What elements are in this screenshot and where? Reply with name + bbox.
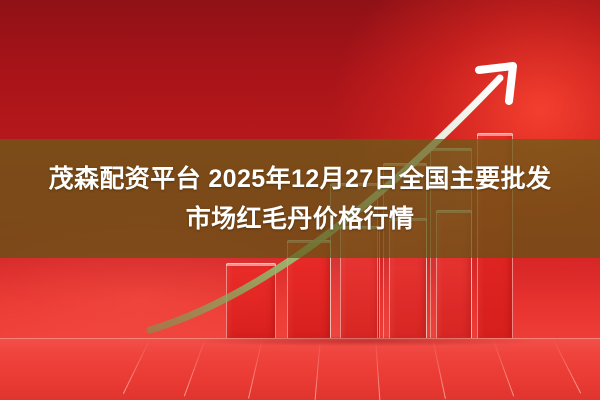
banner-image: 茂森配资平台 2025年12月27日全国主要批发 市场红毛丹价格行情	[0, 0, 600, 400]
bar-cap	[226, 263, 276, 266]
title-line-2: 市场红毛丹价格行情	[186, 199, 415, 239]
bar-cap	[477, 133, 513, 136]
page-title: 茂森配资平台 2025年12月27日全国主要批发 市场红毛丹价格行情	[0, 139, 600, 258]
title-line-1: 茂森配资平台 2025年12月27日全国主要批发	[49, 159, 552, 199]
bar-1	[226, 263, 276, 338]
